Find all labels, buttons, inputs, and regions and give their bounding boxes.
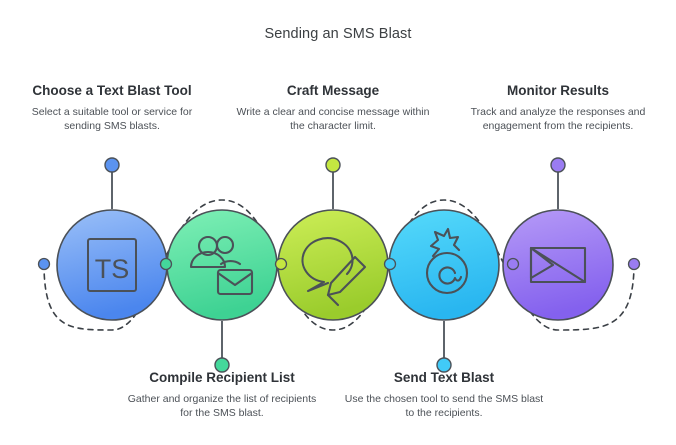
connector-dot-4-5	[508, 259, 519, 270]
step-circle-3[interactable]	[278, 210, 388, 320]
step-desc-1: Select a suitable tool or service for se…	[12, 106, 212, 133]
step-label-2: Compile Recipient ListGather and organiz…	[122, 370, 322, 420]
step-title-2: Compile Recipient List	[122, 370, 322, 386]
connector-dot-end	[629, 259, 640, 270]
step-desc-2: Gather and organize the list of recipien…	[122, 393, 322, 420]
step-title-4: Send Text Blast	[344, 370, 544, 386]
svg-text:TS: TS	[95, 254, 130, 284]
step-title-3: Craft Message	[233, 83, 433, 99]
stem-dot-1	[105, 158, 119, 172]
step-circle-2[interactable]	[167, 210, 277, 320]
step-desc-3: Write a clear and concise message within…	[233, 106, 433, 133]
step-label-4: Send Text BlastUse the chosen tool to se…	[344, 370, 544, 420]
step-desc-4: Use the chosen tool to send the SMS blas…	[344, 393, 544, 420]
step-label-3: Craft MessageWrite a clear and concise m…	[233, 83, 433, 133]
step-circle-4[interactable]	[389, 210, 499, 320]
step-title-5: Monitor Results	[458, 83, 658, 99]
connector-dot-start	[39, 259, 50, 270]
connector-dot-3-4	[385, 259, 396, 270]
connector-dot-1-2	[161, 259, 172, 270]
step-label-1: Choose a Text Blast ToolSelect a suitabl…	[12, 83, 212, 133]
infographic-canvas: Sending an SMS Blast TS Choose a Text Bl…	[0, 0, 676, 445]
step-title-1: Choose a Text Blast Tool	[12, 83, 212, 99]
node-layer: TS	[0, 0, 676, 445]
stem-dot-5	[551, 158, 565, 172]
stem-dot-3	[326, 158, 340, 172]
step-desc-5: Track and analyze the responses and enga…	[458, 106, 658, 133]
step-label-5: Monitor ResultsTrack and analyze the res…	[458, 83, 658, 133]
connector-dot-2-3	[276, 259, 287, 270]
